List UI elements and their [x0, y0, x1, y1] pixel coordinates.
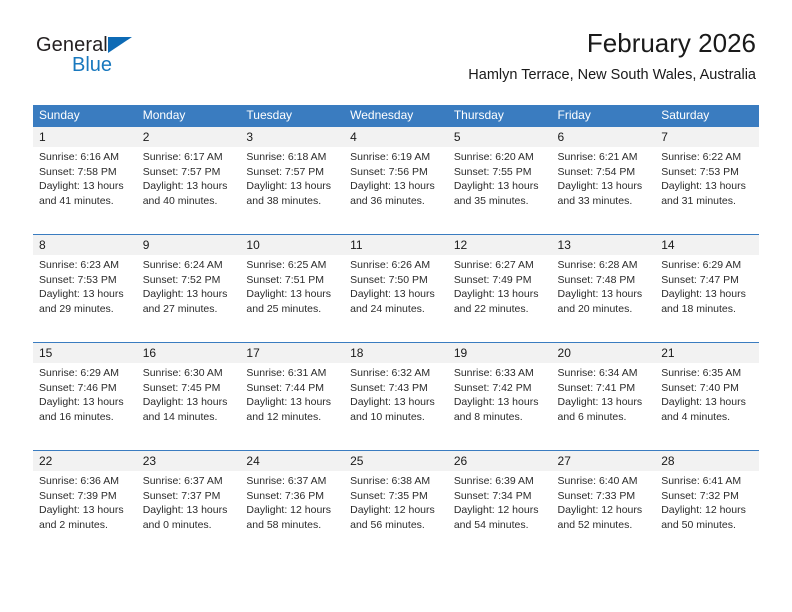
title-block: February 2026 Hamlyn Terrace, New South …	[468, 26, 756, 86]
daylight-text: Daylight: 12 hours and 56 minutes.	[350, 503, 440, 532]
sunset-text: Sunset: 7:51 PM	[246, 273, 336, 288]
sunrise-text: Sunrise: 6:41 AM	[661, 474, 751, 489]
sunset-text: Sunset: 7:37 PM	[143, 489, 233, 504]
sunrise-text: Sunrise: 6:40 AM	[558, 474, 648, 489]
day-cell[interactable]: Sunrise: 6:34 AM Sunset: 7:41 PM Dayligh…	[552, 363, 656, 451]
brand-triangle-icon	[108, 37, 132, 53]
week-2-daynum-row: 8 9 10 11 12 13 14	[33, 235, 759, 256]
day-number[interactable]: 3	[240, 127, 344, 147]
sunrise-text: Sunrise: 6:20 AM	[454, 150, 544, 165]
daylight-text: Daylight: 12 hours and 50 minutes.	[661, 503, 751, 532]
day-cell[interactable]: Sunrise: 6:21 AM Sunset: 7:54 PM Dayligh…	[552, 147, 656, 235]
day-number[interactable]: 25	[344, 451, 448, 472]
day-number[interactable]: 5	[448, 127, 552, 147]
day-cell[interactable]: Sunrise: 6:36 AM Sunset: 7:39 PM Dayligh…	[33, 471, 137, 558]
day-cell[interactable]: Sunrise: 6:37 AM Sunset: 7:37 PM Dayligh…	[137, 471, 241, 558]
daylight-text: Daylight: 12 hours and 54 minutes.	[454, 503, 544, 532]
sunset-text: Sunset: 7:55 PM	[454, 165, 544, 180]
sunset-text: Sunset: 7:32 PM	[661, 489, 751, 504]
daylight-text: Daylight: 13 hours and 31 minutes.	[661, 179, 751, 208]
weekday-header-monday: Monday	[137, 105, 241, 127]
sunset-text: Sunset: 7:48 PM	[558, 273, 648, 288]
day-cell[interactable]: Sunrise: 6:29 AM Sunset: 7:47 PM Dayligh…	[655, 255, 759, 343]
daylight-text: Daylight: 13 hours and 18 minutes.	[661, 287, 751, 316]
week-1-info-row: Sunrise: 6:16 AM Sunset: 7:58 PM Dayligh…	[33, 147, 759, 235]
day-number[interactable]: 14	[655, 235, 759, 256]
daylight-text: Daylight: 13 hours and 14 minutes.	[143, 395, 233, 424]
sunset-text: Sunset: 7:33 PM	[558, 489, 648, 504]
daylight-text: Daylight: 13 hours and 25 minutes.	[246, 287, 336, 316]
day-number[interactable]: 21	[655, 343, 759, 364]
sunrise-text: Sunrise: 6:35 AM	[661, 366, 751, 381]
day-number[interactable]: 9	[137, 235, 241, 256]
day-cell[interactable]: Sunrise: 6:16 AM Sunset: 7:58 PM Dayligh…	[33, 147, 137, 235]
daylight-text: Daylight: 12 hours and 58 minutes.	[246, 503, 336, 532]
sunset-text: Sunset: 7:54 PM	[558, 165, 648, 180]
day-number[interactable]: 18	[344, 343, 448, 364]
day-cell[interactable]: Sunrise: 6:37 AM Sunset: 7:36 PM Dayligh…	[240, 471, 344, 558]
calendar-table: Sunday Monday Tuesday Wednesday Thursday…	[33, 105, 759, 558]
week-3-daynum-row: 15 16 17 18 19 20 21	[33, 343, 759, 364]
daylight-text: Daylight: 13 hours and 12 minutes.	[246, 395, 336, 424]
day-number[interactable]: 2	[137, 127, 241, 147]
sunset-text: Sunset: 7:41 PM	[558, 381, 648, 396]
daylight-text: Daylight: 13 hours and 16 minutes.	[39, 395, 129, 424]
sunset-text: Sunset: 7:42 PM	[454, 381, 544, 396]
sunset-text: Sunset: 7:39 PM	[39, 489, 129, 504]
sunrise-text: Sunrise: 6:26 AM	[350, 258, 440, 273]
daylight-text: Daylight: 13 hours and 40 minutes.	[143, 179, 233, 208]
day-cell[interactable]: Sunrise: 6:17 AM Sunset: 7:57 PM Dayligh…	[137, 147, 241, 235]
page-title: February 2026	[468, 26, 756, 60]
daylight-text: Daylight: 13 hours and 36 minutes.	[350, 179, 440, 208]
week-3-info-row: Sunrise: 6:29 AM Sunset: 7:46 PM Dayligh…	[33, 363, 759, 451]
brand-name-blue: Blue	[72, 54, 112, 77]
sunrise-text: Sunrise: 6:23 AM	[39, 258, 129, 273]
day-cell[interactable]: Sunrise: 6:39 AM Sunset: 7:34 PM Dayligh…	[448, 471, 552, 558]
daylight-text: Daylight: 13 hours and 27 minutes.	[143, 287, 233, 316]
day-cell[interactable]: Sunrise: 6:32 AM Sunset: 7:43 PM Dayligh…	[344, 363, 448, 451]
daylight-text: Daylight: 13 hours and 33 minutes.	[558, 179, 648, 208]
daylight-text: Daylight: 13 hours and 35 minutes.	[454, 179, 544, 208]
sunset-text: Sunset: 7:58 PM	[39, 165, 129, 180]
day-cell[interactable]: Sunrise: 6:25 AM Sunset: 7:51 PM Dayligh…	[240, 255, 344, 343]
sunrise-text: Sunrise: 6:29 AM	[661, 258, 751, 273]
day-number[interactable]: 13	[552, 235, 656, 256]
sunset-text: Sunset: 7:34 PM	[454, 489, 544, 504]
sunset-text: Sunset: 7:56 PM	[350, 165, 440, 180]
sunrise-text: Sunrise: 6:19 AM	[350, 150, 440, 165]
sunrise-text: Sunrise: 6:33 AM	[454, 366, 544, 381]
sunrise-text: Sunrise: 6:34 AM	[558, 366, 648, 381]
sunrise-text: Sunrise: 6:39 AM	[454, 474, 544, 489]
weekday-header-sunday: Sunday	[33, 105, 137, 127]
weekday-header-tuesday: Tuesday	[240, 105, 344, 127]
sunrise-text: Sunrise: 6:38 AM	[350, 474, 440, 489]
day-number[interactable]: 26	[448, 451, 552, 472]
daylight-text: Daylight: 12 hours and 52 minutes.	[558, 503, 648, 532]
day-number[interactable]: 7	[655, 127, 759, 147]
day-cell[interactable]: Sunrise: 6:23 AM Sunset: 7:53 PM Dayligh…	[33, 255, 137, 343]
week-4-daynum-row: 22 23 24 25 26 27 28	[33, 451, 759, 472]
day-cell[interactable]: Sunrise: 6:40 AM Sunset: 7:33 PM Dayligh…	[552, 471, 656, 558]
day-number[interactable]: 20	[552, 343, 656, 364]
day-number[interactable]: 23	[137, 451, 241, 472]
day-cell[interactable]: Sunrise: 6:30 AM Sunset: 7:45 PM Dayligh…	[137, 363, 241, 451]
day-cell[interactable]: Sunrise: 6:31 AM Sunset: 7:44 PM Dayligh…	[240, 363, 344, 451]
day-number[interactable]: 1	[33, 127, 137, 147]
page-header: General Blue February 2026 Hamlyn Terrac…	[0, 26, 792, 96]
day-number[interactable]: 19	[448, 343, 552, 364]
page-subtitle: Hamlyn Terrace, New South Wales, Austral…	[468, 64, 756, 86]
sunrise-text: Sunrise: 6:36 AM	[39, 474, 129, 489]
day-cell[interactable]: Sunrise: 6:18 AM Sunset: 7:57 PM Dayligh…	[240, 147, 344, 235]
day-number[interactable]: 24	[240, 451, 344, 472]
day-number[interactable]: 6	[552, 127, 656, 147]
weekday-header-wednesday: Wednesday	[344, 105, 448, 127]
day-cell[interactable]: Sunrise: 6:26 AM Sunset: 7:50 PM Dayligh…	[344, 255, 448, 343]
sunrise-text: Sunrise: 6:17 AM	[143, 150, 233, 165]
week-1-daynum-row: 1 2 3 4 5 6 7	[33, 127, 759, 147]
daylight-text: Daylight: 13 hours and 22 minutes.	[454, 287, 544, 316]
day-cell[interactable]: Sunrise: 6:19 AM Sunset: 7:56 PM Dayligh…	[344, 147, 448, 235]
day-number[interactable]: 28	[655, 451, 759, 472]
sunset-text: Sunset: 7:57 PM	[246, 165, 336, 180]
sunset-text: Sunset: 7:53 PM	[39, 273, 129, 288]
day-cell[interactable]: Sunrise: 6:38 AM Sunset: 7:35 PM Dayligh…	[344, 471, 448, 558]
daylight-text: Daylight: 13 hours and 0 minutes.	[143, 503, 233, 532]
day-number[interactable]: 17	[240, 343, 344, 364]
day-cell[interactable]: Sunrise: 6:24 AM Sunset: 7:52 PM Dayligh…	[137, 255, 241, 343]
day-cell[interactable]: Sunrise: 6:28 AM Sunset: 7:48 PM Dayligh…	[552, 255, 656, 343]
weekday-header-thursday: Thursday	[448, 105, 552, 127]
day-number[interactable]: 11	[344, 235, 448, 256]
sunrise-text: Sunrise: 6:21 AM	[558, 150, 648, 165]
weekday-header-saturday: Saturday	[655, 105, 759, 127]
sunrise-text: Sunrise: 6:32 AM	[350, 366, 440, 381]
weekday-header-friday: Friday	[552, 105, 656, 127]
sunrise-text: Sunrise: 6:25 AM	[246, 258, 336, 273]
sunset-text: Sunset: 7:53 PM	[661, 165, 751, 180]
sunrise-text: Sunrise: 6:24 AM	[143, 258, 233, 273]
sunset-text: Sunset: 7:50 PM	[350, 273, 440, 288]
sunset-text: Sunset: 7:36 PM	[246, 489, 336, 504]
daylight-text: Daylight: 13 hours and 38 minutes.	[246, 179, 336, 208]
day-number[interactable]: 8	[33, 235, 137, 256]
daylight-text: Daylight: 13 hours and 20 minutes.	[558, 287, 648, 316]
day-cell[interactable]: Sunrise: 6:22 AM Sunset: 7:53 PM Dayligh…	[655, 147, 759, 235]
sunrise-text: Sunrise: 6:16 AM	[39, 150, 129, 165]
week-4-info-row: Sunrise: 6:36 AM Sunset: 7:39 PM Dayligh…	[33, 471, 759, 558]
daylight-text: Daylight: 13 hours and 2 minutes.	[39, 503, 129, 532]
sunrise-text: Sunrise: 6:37 AM	[143, 474, 233, 489]
day-cell[interactable]: Sunrise: 6:20 AM Sunset: 7:55 PM Dayligh…	[448, 147, 552, 235]
sunrise-text: Sunrise: 6:27 AM	[454, 258, 544, 273]
day-cell[interactable]: Sunrise: 6:27 AM Sunset: 7:49 PM Dayligh…	[448, 255, 552, 343]
sunset-text: Sunset: 7:44 PM	[246, 381, 336, 396]
day-cell[interactable]: Sunrise: 6:29 AM Sunset: 7:46 PM Dayligh…	[33, 363, 137, 451]
daylight-text: Daylight: 13 hours and 8 minutes.	[454, 395, 544, 424]
weekday-header-row: Sunday Monday Tuesday Wednesday Thursday…	[33, 105, 759, 127]
day-number[interactable]: 10	[240, 235, 344, 256]
day-number[interactable]: 16	[137, 343, 241, 364]
sunset-text: Sunset: 7:57 PM	[143, 165, 233, 180]
sunrise-text: Sunrise: 6:22 AM	[661, 150, 751, 165]
day-number[interactable]: 12	[448, 235, 552, 256]
sunset-text: Sunset: 7:52 PM	[143, 273, 233, 288]
daylight-text: Daylight: 13 hours and 10 minutes.	[350, 395, 440, 424]
calendar-page: General Blue February 2026 Hamlyn Terrac…	[0, 0, 792, 612]
sunset-text: Sunset: 7:46 PM	[39, 381, 129, 396]
daylight-text: Daylight: 13 hours and 41 minutes.	[39, 179, 129, 208]
sunrise-text: Sunrise: 6:37 AM	[246, 474, 336, 489]
daylight-text: Daylight: 13 hours and 6 minutes.	[558, 395, 648, 424]
week-2-info-row: Sunrise: 6:23 AM Sunset: 7:53 PM Dayligh…	[33, 255, 759, 343]
brand-logo[interactable]: General Blue	[36, 34, 196, 80]
sunrise-text: Sunrise: 6:31 AM	[246, 366, 336, 381]
daylight-text: Daylight: 13 hours and 29 minutes.	[39, 287, 129, 316]
day-cell[interactable]: Sunrise: 6:41 AM Sunset: 7:32 PM Dayligh…	[655, 471, 759, 558]
day-cell[interactable]: Sunrise: 6:33 AM Sunset: 7:42 PM Dayligh…	[448, 363, 552, 451]
sunset-text: Sunset: 7:40 PM	[661, 381, 751, 396]
daylight-text: Daylight: 13 hours and 4 minutes.	[661, 395, 751, 424]
daylight-text: Daylight: 13 hours and 24 minutes.	[350, 287, 440, 316]
day-number[interactable]: 27	[552, 451, 656, 472]
sunrise-text: Sunrise: 6:29 AM	[39, 366, 129, 381]
day-number[interactable]: 22	[33, 451, 137, 472]
sunrise-text: Sunrise: 6:30 AM	[143, 366, 233, 381]
day-number[interactable]: 4	[344, 127, 448, 147]
sunset-text: Sunset: 7:49 PM	[454, 273, 544, 288]
sunset-text: Sunset: 7:43 PM	[350, 381, 440, 396]
sunset-text: Sunset: 7:45 PM	[143, 381, 233, 396]
sunrise-text: Sunrise: 6:18 AM	[246, 150, 336, 165]
sunset-text: Sunset: 7:47 PM	[661, 273, 751, 288]
sunrise-text: Sunrise: 6:28 AM	[558, 258, 648, 273]
day-cell[interactable]: Sunrise: 6:35 AM Sunset: 7:40 PM Dayligh…	[655, 363, 759, 451]
sunset-text: Sunset: 7:35 PM	[350, 489, 440, 504]
day-number[interactable]: 15	[33, 343, 137, 364]
